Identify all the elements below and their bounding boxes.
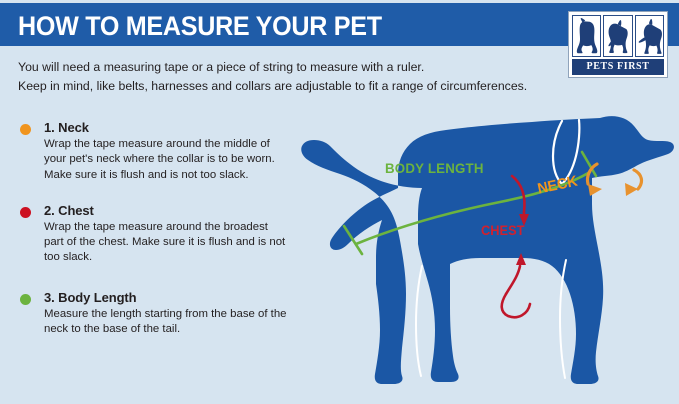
steps-list: 1. Neck Wrap the tape measure around the…: [18, 120, 288, 354]
label-chest: CHEST: [481, 223, 524, 238]
step-chest-title: 2. Chest: [44, 203, 288, 218]
dog-standing-tail-icon: [635, 15, 664, 57]
bullet-green-icon: [20, 294, 31, 305]
step-chest-body: Wrap the tape measure around the broades…: [44, 220, 288, 266]
step-body-length-title: 3. Body Length: [44, 290, 288, 305]
dog-silhouette-icon: [301, 116, 674, 384]
step-chest: 2. Chest Wrap the tape measure around th…: [18, 203, 288, 266]
intro-line-1: You will need a measuring tape or a piec…: [18, 58, 563, 77]
dog-illustration: [300, 108, 679, 393]
step-body-length: 3. Body Length Measure the length starti…: [18, 290, 288, 338]
infographic-page: HOW TO MEASURE YOUR PET: [0, 0, 679, 404]
intro-text: You will need a measuring tape or a piec…: [18, 58, 563, 96]
step-neck-title: 1. Neck: [44, 120, 288, 135]
bullet-red-icon: [20, 207, 31, 218]
step-body-length-body: Measure the length starting from the bas…: [44, 307, 288, 338]
logo-wordmark: PETS FIRST: [572, 59, 664, 75]
brand-logo: PETS FIRST: [568, 11, 668, 78]
neck-arrowheads: [588, 183, 638, 196]
label-body-length: BODY LENGTH: [385, 160, 484, 176]
step-neck: 1. Neck Wrap the tape measure around the…: [18, 120, 288, 183]
intro-line-2: Keep in mind, like belts, harnesses and …: [18, 77, 563, 96]
dog-sitting-icon: [572, 15, 601, 57]
step-neck-body: Wrap the tape measure around the middle …: [44, 137, 288, 183]
page-title: HOW TO MEASURE YOUR PET: [18, 11, 382, 41]
bullet-orange-icon: [20, 124, 31, 135]
dog-standing-icon: [603, 15, 632, 57]
logo-icon-row: [572, 15, 664, 57]
dog-diagram-svg: [300, 108, 679, 393]
